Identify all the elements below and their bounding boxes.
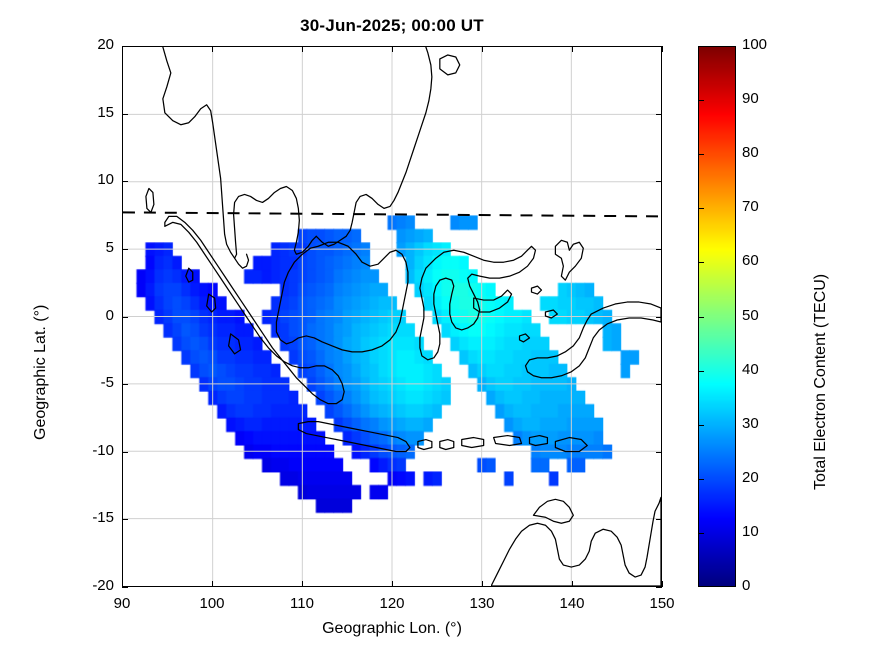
colorbar-tick-label: 30 xyxy=(742,415,782,432)
x-tick xyxy=(392,581,393,587)
y-tick-label: 10 xyxy=(66,171,114,188)
y-tick-label: -5 xyxy=(66,374,114,391)
y-tick-label: 5 xyxy=(66,239,114,256)
y-tick-right xyxy=(656,114,662,115)
y-tick-label: 0 xyxy=(66,307,114,324)
colorbar-tick-label: 90 xyxy=(742,90,782,107)
x-tick-top xyxy=(212,46,213,52)
y-tick-right xyxy=(656,46,662,47)
y-tick-right xyxy=(656,587,662,588)
y-tick xyxy=(122,181,128,182)
x-tick-top xyxy=(392,46,393,52)
x-tick-label: 130 xyxy=(452,595,512,612)
y-tick xyxy=(122,519,128,520)
x-axis-label: Geographic Lon. (°) xyxy=(122,620,662,638)
colorbar-tick-label: 40 xyxy=(742,361,782,378)
y-tick-right xyxy=(656,181,662,182)
colorbar-tick xyxy=(698,371,704,372)
x-tick-top xyxy=(302,46,303,52)
colorbar-label: Total Electron Content (TECU) xyxy=(812,274,830,490)
x-tick xyxy=(482,581,483,587)
map-axes xyxy=(122,46,662,587)
figure-canvas: 30-Jun-2025; 00:00 UT xyxy=(0,0,875,656)
y-tick xyxy=(122,587,128,588)
geomagnetic-equator-line xyxy=(123,47,661,586)
x-tick-label: 100 xyxy=(182,595,242,612)
y-tick-label: -15 xyxy=(66,509,114,526)
colorbar-tick-label: 0 xyxy=(742,577,782,594)
colorbar-tick xyxy=(698,317,704,318)
plot-title: 30-Jun-2025; 00:00 UT xyxy=(122,16,662,36)
y-tick-right xyxy=(656,384,662,385)
x-tick-top xyxy=(662,46,663,52)
y-tick-label: 20 xyxy=(66,36,114,53)
y-tick-right xyxy=(656,519,662,520)
colorbar-tick xyxy=(698,262,704,263)
x-tick-top xyxy=(572,46,573,52)
y-tick xyxy=(122,452,128,453)
colorbar-tick xyxy=(698,425,704,426)
x-tick xyxy=(662,581,663,587)
y-tick-label: -10 xyxy=(66,442,114,459)
y-tick xyxy=(122,317,128,318)
colorbar-tick-label: 20 xyxy=(742,469,782,486)
x-tick-label: 90 xyxy=(92,595,152,612)
y-tick-label: -20 xyxy=(66,577,114,594)
y-tick-right xyxy=(656,249,662,250)
y-tick xyxy=(122,249,128,250)
colorbar-gradient xyxy=(699,47,735,586)
colorbar-tick-label: 100 xyxy=(742,36,782,53)
x-tick-label: 110 xyxy=(272,595,332,612)
y-tick xyxy=(122,384,128,385)
colorbar-tick-label: 60 xyxy=(742,252,782,269)
colorbar-tick xyxy=(698,208,704,209)
y-tick xyxy=(122,46,128,47)
x-tick-label: 120 xyxy=(362,595,422,612)
x-tick-label: 140 xyxy=(542,595,602,612)
colorbar-tick xyxy=(698,479,704,480)
x-tick-top xyxy=(482,46,483,52)
colorbar-tick-label: 50 xyxy=(742,307,782,324)
colorbar-tick xyxy=(698,100,704,101)
y-axis-label: Geographic Lat. (°) xyxy=(32,305,50,440)
colorbar-tick xyxy=(698,533,704,534)
colorbar-tick xyxy=(698,154,704,155)
colorbar-tick-label: 10 xyxy=(742,523,782,540)
y-tick-right xyxy=(656,317,662,318)
y-tick xyxy=(122,114,128,115)
y-tick-right xyxy=(656,452,662,453)
colorbar-tick-label: 80 xyxy=(742,144,782,161)
x-tick xyxy=(302,581,303,587)
y-tick-label: 15 xyxy=(66,104,114,121)
colorbar-tick-label: 70 xyxy=(742,198,782,215)
x-tick xyxy=(212,581,213,587)
x-tick-label: 150 xyxy=(632,595,692,612)
x-tick xyxy=(572,581,573,587)
